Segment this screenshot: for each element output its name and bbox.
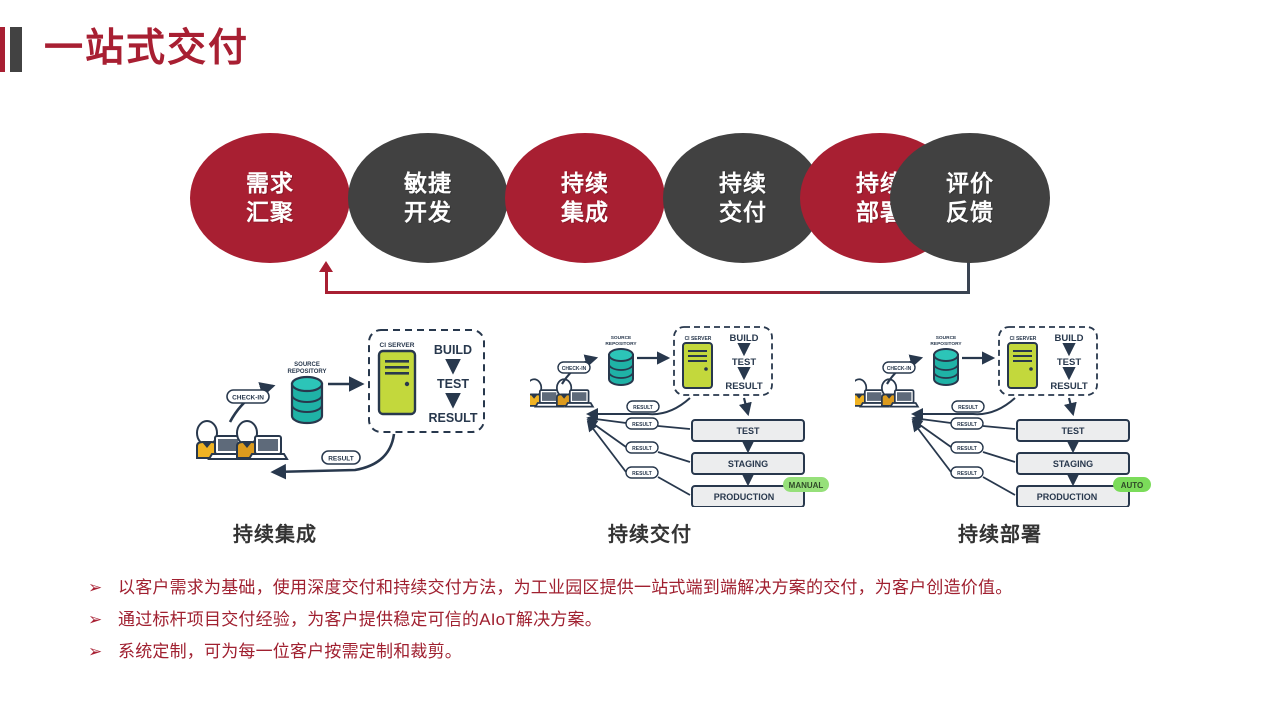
source-repository-icon: SOURCE REPOSITORY — [287, 362, 326, 423]
ci-server-label: CI SERVER — [1010, 336, 1037, 342]
bullet-text-1: 以客户需求为基础，使用深度交付和持续交付方法，为工业园区提供一站式端到端解决方案… — [118, 575, 1012, 601]
edge-label-checkin: CHECK-IN — [227, 390, 269, 403]
result-label-0: RESULT — [958, 405, 978, 411]
pipeline-stage-2-label: 敏捷开发 — [404, 169, 452, 227]
ci-build-label: BUILD — [434, 343, 472, 357]
ci-test-label: TEST — [437, 377, 469, 391]
badge-auto-label: AUTO — [1121, 481, 1144, 490]
result-label-2: RESULT — [957, 446, 977, 452]
bullet-item-1: ➢ 以客户需求为基础，使用深度交付和持续交付方法，为工业园区提供一站式端到端解决… — [88, 575, 1248, 601]
slide-canvas: 一站式交付 需求汇聚 敏捷开发 持续集成 持续交付 持续部署 评价反馈 — [0, 0, 1282, 706]
feedback-arrow-line-dark — [820, 291, 970, 294]
pipeline-box-test-label: TEST — [1061, 426, 1085, 436]
result-label-0: RESULT — [633, 405, 653, 411]
checkin-label: CHECK-IN — [562, 366, 587, 372]
edge-label-result-2: RESULT — [626, 442, 658, 453]
ci-result-label: RESULT — [428, 411, 477, 425]
badge-auto: AUTO — [1113, 477, 1151, 492]
pipeline-stage-2[interactable]: 敏捷开发 — [348, 133, 508, 263]
bullet-arrow-icon: ➢ — [88, 607, 118, 633]
cdeploy-diagram-svg: CHECK-IN SOURCE REPOSITORY CI SERVER BU — [855, 322, 1195, 507]
bullet-arrow-icon: ➢ — [88, 575, 118, 601]
badge-manual: MANUAL — [783, 477, 829, 492]
result-label-1: RESULT — [957, 422, 977, 428]
result-label-1: RESULT — [632, 422, 652, 428]
ci-server-label: CI SERVER — [685, 336, 712, 342]
diagram-continuous-delivery: CHECK-IN SOURCE REPOSITORY CI SERVER BU — [530, 322, 870, 507]
cd-diagram-svg: CHECK-IN SOURCE REPOSITORY CI SERVER BU — [530, 322, 870, 507]
bullet-item-3: ➢ 系统定制，可为每一位客户按需定制和裁剪。 — [88, 639, 1248, 665]
bullet-arrow-icon: ➢ — [88, 639, 118, 665]
diagram-caption-3: 持续部署 — [830, 518, 1170, 547]
pipeline-stage-4[interactable]: 持续交付 — [663, 133, 823, 263]
pipeline-stage-1-label: 需求汇聚 — [246, 169, 294, 227]
pipeline-box-production-label: PRODUCTION — [714, 492, 775, 502]
ci-build-label: BUILD — [1054, 333, 1083, 344]
pipeline-box-production: PRODUCTION — [1017, 486, 1129, 507]
svg-text:SOURCE: SOURCE — [294, 362, 320, 368]
edge-label-checkin: CHECK-IN — [558, 362, 590, 373]
source-repository-icon: SOURCE REPOSITORY — [930, 335, 962, 385]
ci-test-label: TEST — [1057, 357, 1081, 368]
bullet-text-2: 通过标杆项目交付经验，为客户提供稳定可信的AIoT解决方案。 — [118, 607, 602, 633]
edge-label-result-1: RESULT — [626, 418, 658, 429]
pipeline-box-staging: STAGING — [692, 453, 804, 474]
bullet-item-2: ➢ 通过标杆项目交付经验，为客户提供稳定可信的AIoT解决方案。 — [88, 607, 1248, 633]
ci-test-label: TEST — [732, 357, 756, 368]
svg-text:SOURCE: SOURCE — [611, 335, 632, 341]
ci-result-label: RESULT — [725, 381, 762, 392]
ci-result-label: RESULT — [1050, 381, 1087, 392]
pipeline-box-test: TEST — [1017, 420, 1129, 441]
feedback-arrow-riser — [967, 258, 970, 294]
pipeline-box-test: TEST — [692, 420, 804, 441]
edge-label-result-3: RESULT — [626, 467, 658, 478]
checkin-label: CHECK-IN — [232, 395, 264, 402]
ci-diagram-svg: CHECK-IN SOURCE REPOSITORY CI SERVER — [185, 322, 525, 507]
edge-label-checkin: CHECK-IN — [883, 362, 915, 373]
pipeline-box-staging-label: STAGING — [728, 459, 768, 469]
pipeline-stage-3-label: 持续集成 — [561, 169, 609, 227]
result-label-2: RESULT — [632, 446, 652, 452]
diagram-caption-1: 持续集成 — [105, 518, 445, 547]
ci-build-label: BUILD — [729, 333, 758, 344]
result-label-3: RESULT — [957, 471, 977, 477]
pipeline-box-test-label: TEST — [736, 426, 760, 436]
ci-server-label: CI SERVER — [380, 342, 415, 349]
ci-server-icon — [1008, 343, 1037, 388]
pipeline-stage-row: 需求汇聚 敏捷开发 持续集成 持续交付 持续部署 评价反馈 — [0, 0, 1282, 300]
svg-text:REPOSITORY: REPOSITORY — [287, 369, 326, 375]
edge-label-result-2: RESULT — [951, 442, 983, 453]
edge-label-result-0: RESULT — [952, 401, 984, 412]
edge-label-result-0: RESULT — [627, 401, 659, 412]
svg-text:REPOSITORY: REPOSITORY — [930, 341, 962, 347]
developer-icon-2 — [237, 421, 287, 459]
result-label-3: RESULT — [632, 471, 652, 477]
pipeline-stage-6-label: 评价反馈 — [946, 169, 994, 227]
checkin-label: CHECK-IN — [887, 366, 912, 372]
edge-label-result-1: RESULT — [951, 418, 983, 429]
pipeline-box-staging: STAGING — [1017, 453, 1129, 474]
edge-label-result: RESULT — [322, 451, 360, 464]
pipeline-stage-6[interactable]: 评价反馈 — [890, 133, 1050, 263]
pipeline-box-production-label: PRODUCTION — [1037, 492, 1098, 502]
pipeline-box-staging-label: STAGING — [1053, 459, 1093, 469]
ci-server-icon — [683, 343, 712, 388]
bullet-list: ➢ 以客户需求为基础，使用深度交付和持续交付方法，为工业园区提供一站式端到端解决… — [88, 575, 1248, 671]
diagram-caption-2: 持续交付 — [480, 518, 820, 547]
pipeline-stage-4-label: 持续交付 — [719, 169, 767, 227]
source-repository-icon: SOURCE REPOSITORY — [605, 335, 637, 385]
feedback-arrow-head-icon — [319, 261, 333, 272]
result-label: RESULT — [328, 456, 354, 463]
ci-server-icon — [379, 351, 415, 414]
diagram-continuous-deployment: CHECK-IN SOURCE REPOSITORY CI SERVER BU — [855, 322, 1195, 507]
pipeline-stage-1[interactable]: 需求汇聚 — [190, 133, 350, 263]
badge-manual-label: MANUAL — [789, 481, 824, 490]
bullet-text-3: 系统定制，可为每一位客户按需定制和裁剪。 — [118, 639, 462, 665]
svg-text:REPOSITORY: REPOSITORY — [605, 341, 637, 347]
diagram-continuous-integration: CHECK-IN SOURCE REPOSITORY CI SERVER — [185, 322, 525, 507]
svg-text:SOURCE: SOURCE — [936, 335, 957, 341]
pipeline-stage-3[interactable]: 持续集成 — [505, 133, 665, 263]
edge-label-result-3: RESULT — [951, 467, 983, 478]
